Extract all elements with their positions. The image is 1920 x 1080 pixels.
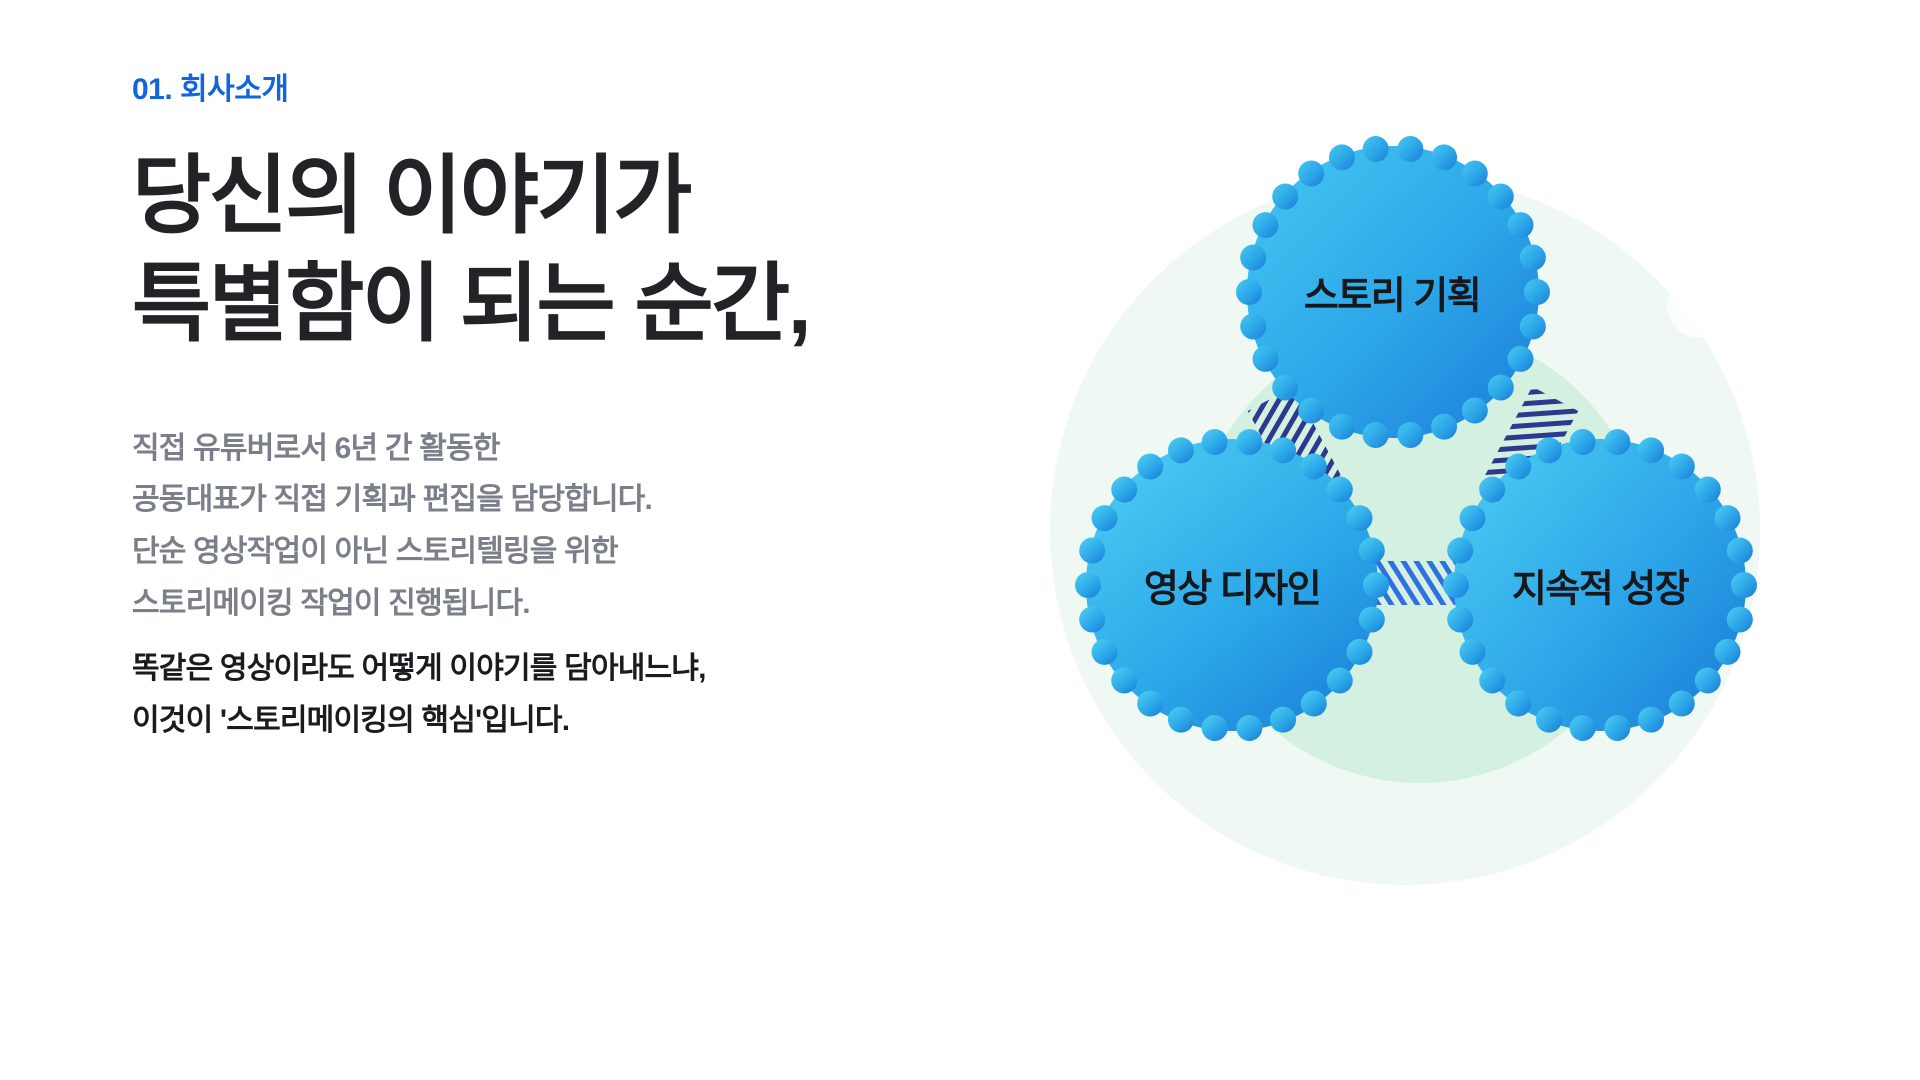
page-title: 당신의 이야기가 특별함이 되는 순간, [132,142,1032,359]
section-eyebrow-label: 01. 회사소개 [132,72,1032,108]
body-paragraph: 직접 유튜버로서 6년 간 활동한 공동대표가 직접 기획과 편집을 담당합니다… [132,423,1032,747]
body-line-1: 직접 유튜버로서 6년 간 활동한 [132,423,1032,475]
body-line-5: 똑같은 영상이라도 어떻게 이야기를 담아내느냐, [132,643,1032,695]
text-column: 01. 회사소개 당신의 이야기가 특별함이 되는 순간, 직접 유튜버로서 6… [132,72,1032,746]
backdrop-dot-right [1667,272,1733,338]
body-line-3: 단순 영상작업이 아닌 스토리텔링을 위한 [132,526,1032,578]
slide-canvas: 01. 회사소개 당신의 이야기가 특별함이 되는 순간, 직접 유튜버로서 6… [0,0,1920,1080]
paragraph-spacer [132,629,1032,643]
headline-line-1: 당신의 이야기가 [132,142,1032,250]
gear-diagram: 스토리 기획 영상 디자인 지속적 성장 [1000,60,1880,960]
body-line-4: 스토리메이킹 작업이 진행됩니다. [132,578,1032,630]
headline-line-2: 특별함이 되는 순간, [132,250,1032,358]
gear-diagram-svg [1000,60,1880,960]
body-line-6: 이것이 '스토리메이킹의 핵심'입니다. [132,695,1032,747]
body-line-2: 공동대표가 직접 기획과 편집을 담당합니다. [132,474,1032,526]
